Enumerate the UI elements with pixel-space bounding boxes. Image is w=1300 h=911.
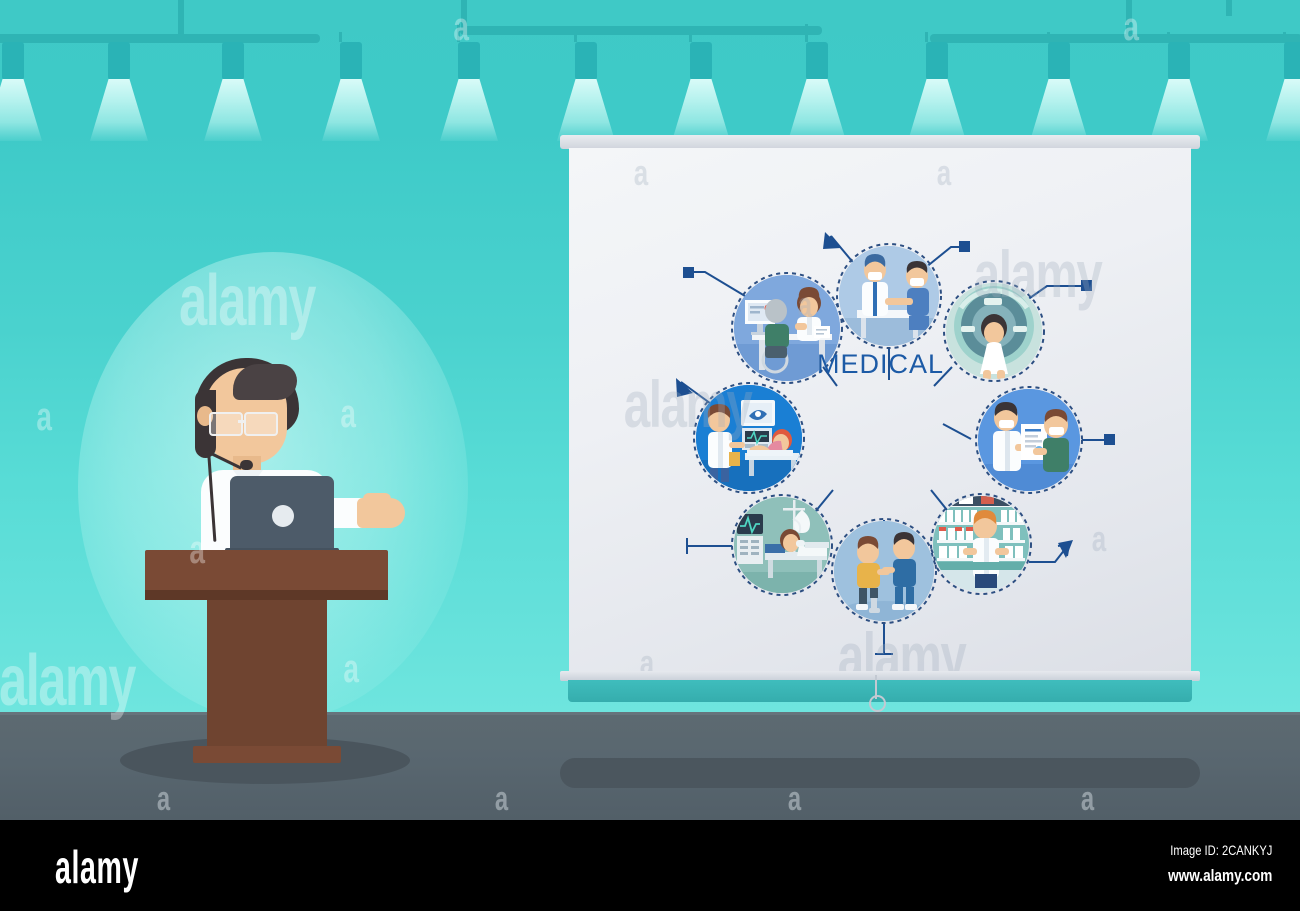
screen-canvas: MEDICAL alamy alamy alamy a a a a a xyxy=(569,148,1191,673)
screen-top-bar xyxy=(560,135,1200,149)
hair-swoop xyxy=(233,364,297,400)
medical-infographic: MEDICAL xyxy=(569,148,1191,673)
node-rehabilitation[interactable] xyxy=(832,519,936,623)
footer-bar: alamy Image ID: 2CANKYJ www.alamy.com xyxy=(0,820,1300,911)
node-examination[interactable] xyxy=(837,244,941,348)
infographic-center-title: MEDICAL xyxy=(773,344,988,384)
glasses-left-lens xyxy=(209,412,243,436)
hand-thumb xyxy=(363,493,391,505)
podium-top-shade xyxy=(145,590,388,600)
glasses-right-lens xyxy=(244,412,278,436)
node-intensive-care[interactable] xyxy=(732,495,832,595)
screen-pull-ring[interactable] xyxy=(869,695,886,712)
microphone-icon xyxy=(240,460,253,470)
screenshot-root: MEDICAL alamy alamy alamy a a a a a xyxy=(0,0,1300,911)
conference-room: MEDICAL alamy alamy alamy a a a a a xyxy=(0,0,1300,820)
laptop-logo-icon xyxy=(272,505,294,527)
alamy-logo: alamy xyxy=(55,840,139,894)
podium-base xyxy=(193,746,341,763)
alamy-url[interactable]: www.alamy.com xyxy=(1168,866,1272,886)
node-ultrasound[interactable] xyxy=(694,383,804,493)
image-id-label: Image ID: 2CANKYJ xyxy=(1168,842,1272,858)
screen-floor-shadow xyxy=(560,758,1200,788)
podium-column xyxy=(207,600,327,755)
presenter-group[interactable] xyxy=(145,350,420,770)
glasses-bridge xyxy=(238,420,246,423)
footer-meta: Image ID: 2CANKYJ www.alamy.com xyxy=(1142,842,1272,886)
infographic-svg xyxy=(569,148,1191,673)
projection-screen[interactable]: MEDICAL alamy alamy alamy a a a a a xyxy=(560,135,1200,705)
node-prescription[interactable] xyxy=(976,387,1082,493)
